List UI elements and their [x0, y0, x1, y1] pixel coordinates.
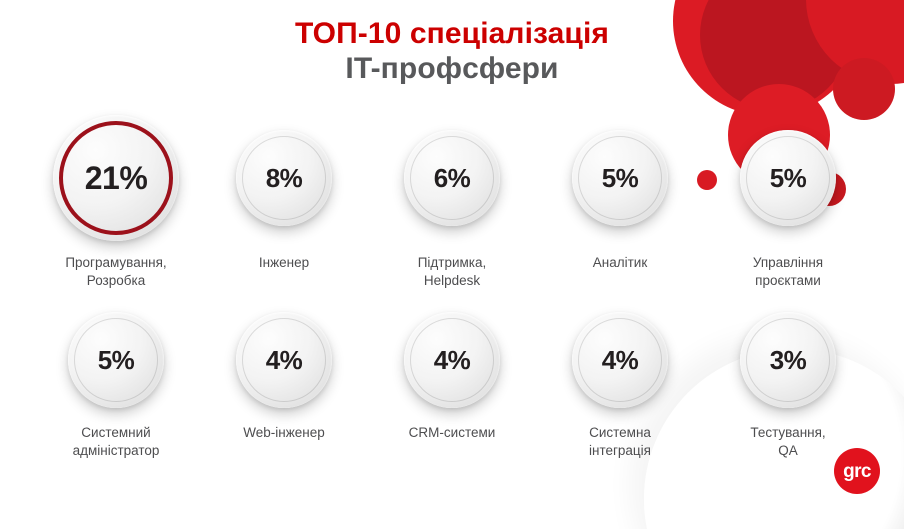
stat-label: Аналітик [593, 254, 647, 272]
bubble-slot: 3% [740, 302, 836, 418]
stat-cell-programming[interactable]: 21% Програмування, Розробка [32, 108, 200, 290]
stat-bubble-analyst[interactable]: 5% [572, 130, 668, 226]
stat-bubble-engineer[interactable]: 8% [236, 130, 332, 226]
stat-cell-system-integration[interactable]: 4% Системна інтеграція [536, 302, 704, 460]
bubble-slot: 4% [404, 302, 500, 418]
bubble-row-2: 5% Системний адміністратор 4% Web-інжене… [0, 302, 904, 460]
bubble-slot: 4% [572, 302, 668, 418]
stat-value: 21% [85, 160, 148, 197]
bubble-slot: 5% [740, 108, 836, 248]
stat-label: Тестування, QA [750, 424, 825, 460]
stat-label: Системна інтеграція [589, 424, 651, 460]
stat-bubble-system-integration[interactable]: 4% [572, 312, 668, 408]
bubble-slot: 5% [572, 108, 668, 248]
stat-bubble-project-management[interactable]: 5% [740, 130, 836, 226]
stat-bubble-programming[interactable]: 21% [53, 115, 179, 241]
stat-cell-web-engineer[interactable]: 4% Web-інженер [200, 302, 368, 442]
stat-value: 3% [770, 345, 807, 376]
stat-cell-project-management[interactable]: 5% Управління проєктами [704, 108, 872, 290]
stat-cell-support-helpdesk[interactable]: 6% Підтримка, Helpdesk [368, 108, 536, 290]
stat-value: 5% [602, 163, 639, 194]
bubble-slot: 8% [236, 108, 332, 248]
page-title: ТОП-10 спеціалізація IT-профсфери [0, 16, 904, 87]
stat-value: 4% [434, 345, 471, 376]
bubble-slot: 4% [236, 302, 332, 418]
stat-value: 5% [770, 163, 807, 194]
stat-cell-engineer[interactable]: 8% Інженер [200, 108, 368, 272]
stat-label: Підтримка, Helpdesk [418, 254, 487, 290]
stat-value: 4% [266, 345, 303, 376]
stat-bubble-sysadmin[interactable]: 5% [68, 312, 164, 408]
stat-label: Управління проєктами [753, 254, 823, 290]
stat-value: 6% [434, 163, 471, 194]
bubble-slot: 5% [68, 302, 164, 418]
stat-cell-testing-qa[interactable]: 3% Тестування, QA [704, 302, 872, 460]
stat-label: Web-інженер [243, 424, 324, 442]
brand-logo-text: grc [843, 462, 871, 481]
stat-bubble-web-engineer[interactable]: 4% [236, 312, 332, 408]
stat-cell-crm-systems[interactable]: 4% CRM-системи [368, 302, 536, 442]
stat-label: Інженер [259, 254, 309, 272]
stat-cell-analyst[interactable]: 5% Аналітик [536, 108, 704, 272]
title-line-1: ТОП-10 спеціалізація [0, 16, 904, 51]
brand-logo[interactable]: grc [834, 448, 880, 494]
stat-bubble-support-helpdesk[interactable]: 6% [404, 130, 500, 226]
stat-bubble-testing-qa[interactable]: 3% [740, 312, 836, 408]
bubble-slot: 21% [53, 108, 179, 248]
stat-label: Системний адміністратор [73, 424, 160, 460]
stat-bubble-crm-systems[interactable]: 4% [404, 312, 500, 408]
stat-cell-sysadmin[interactable]: 5% Системний адміністратор [32, 302, 200, 460]
stat-label: CRM-системи [409, 424, 496, 442]
stat-value: 4% [602, 345, 639, 376]
title-line-2: IT-профсфери [0, 51, 904, 86]
bubble-grid: 21% Програмування, Розробка 8% Інженер 6… [0, 108, 904, 460]
bubble-slot: 6% [404, 108, 500, 248]
bubble-row-1: 21% Програмування, Розробка 8% Інженер 6… [0, 108, 904, 290]
stat-value: 8% [266, 163, 303, 194]
infographic-slide: ТОП-10 спеціалізація IT-профсфери 21% Пр… [0, 0, 904, 529]
stat-label: Програмування, Розробка [65, 254, 166, 290]
stat-value: 5% [98, 345, 135, 376]
